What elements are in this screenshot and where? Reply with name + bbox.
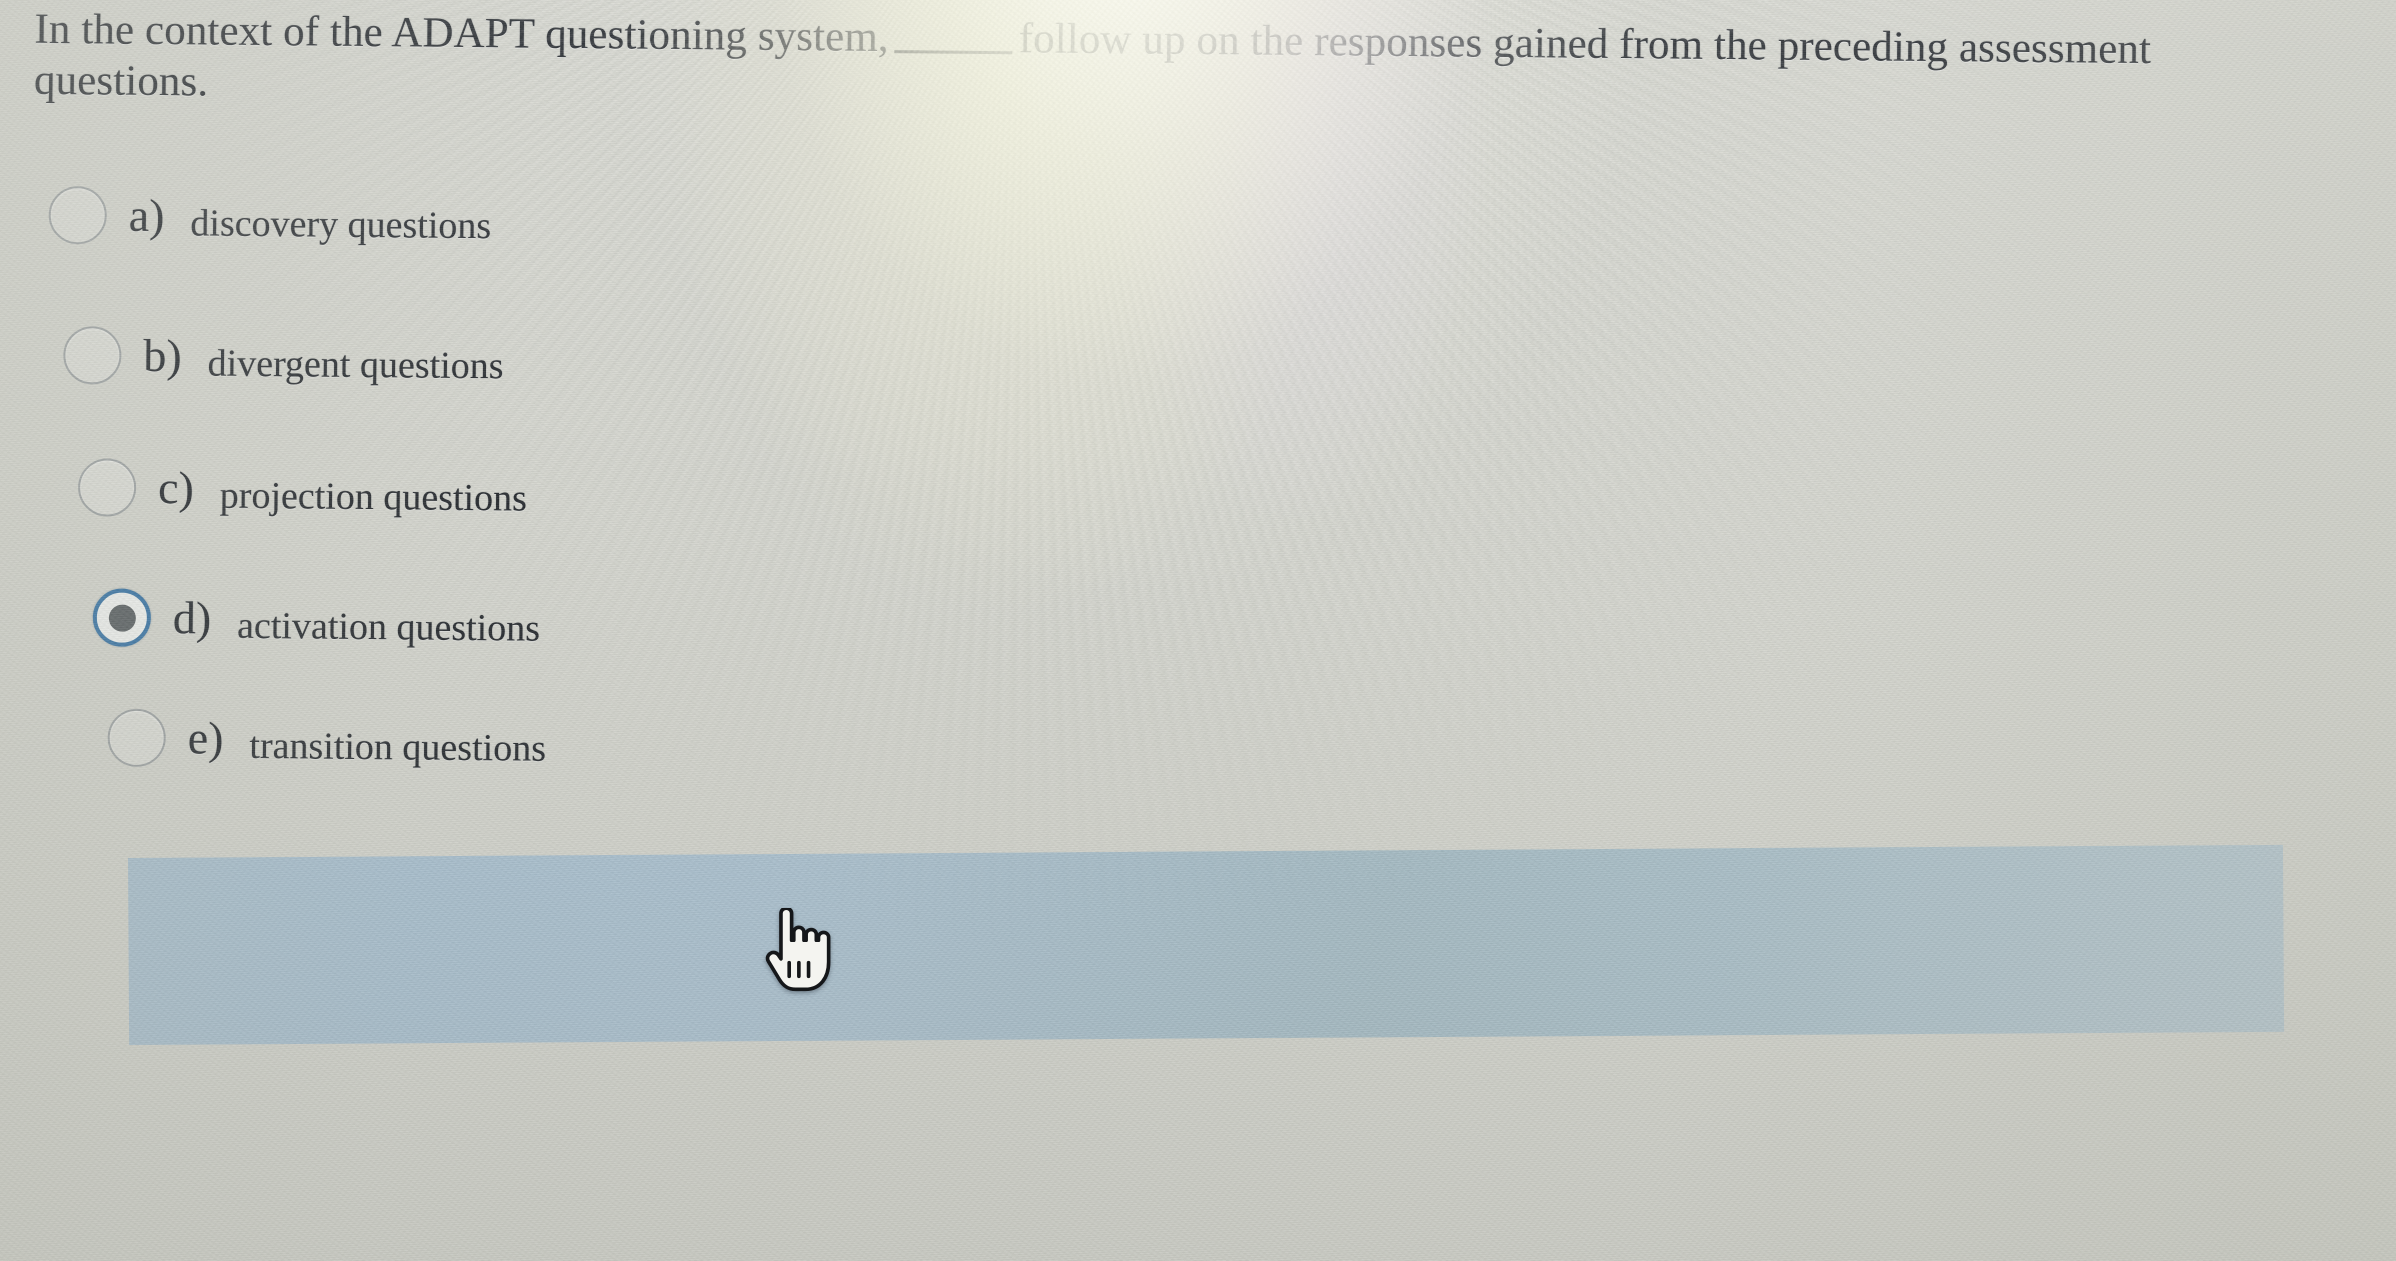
question-stem: In the context of the ADAPT questioning … bbox=[34, 5, 2325, 128]
option-label-b: divergent questions bbox=[207, 344, 503, 385]
option-letter-a: a) bbox=[129, 193, 165, 239]
option-label-c: projection questions bbox=[220, 477, 527, 518]
option-row-b[interactable]: b) divergent questions bbox=[63, 307, 504, 407]
option-letter-c: c) bbox=[158, 465, 194, 511]
pointing-hand-cursor bbox=[756, 908, 834, 1000]
option-row-d[interactable]: d) activation questions bbox=[92, 569, 540, 669]
option-label-a: discovery questions bbox=[190, 204, 491, 245]
option-label-d: activation questions bbox=[237, 607, 540, 648]
option-row-a[interactable]: a) discovery questions bbox=[48, 167, 491, 267]
radio-button-e[interactable] bbox=[107, 709, 166, 768]
option-label-e: transition questions bbox=[249, 727, 546, 768]
radio-button-b[interactable] bbox=[63, 326, 122, 385]
option-letter-e: e) bbox=[187, 715, 223, 761]
quiz-content: In the context of the ADAPT questioning … bbox=[0, 0, 2396, 1261]
radio-button-c[interactable] bbox=[78, 458, 137, 517]
screenshot-root: In the context of the ADAPT questioning … bbox=[0, 0, 2396, 1261]
option-letter-b: b) bbox=[143, 333, 182, 379]
question-blank bbox=[895, 14, 1013, 55]
option-row-c[interactable]: c) projection questions bbox=[78, 439, 528, 539]
radio-button-a[interactable] bbox=[48, 186, 107, 245]
option-letter-d: d) bbox=[173, 595, 212, 641]
option-row-e[interactable]: e) transition questions bbox=[107, 690, 546, 790]
question-text-before-blank: In the context of the ADAPT questioning … bbox=[34, 6, 889, 61]
radio-button-d[interactable] bbox=[93, 588, 152, 647]
